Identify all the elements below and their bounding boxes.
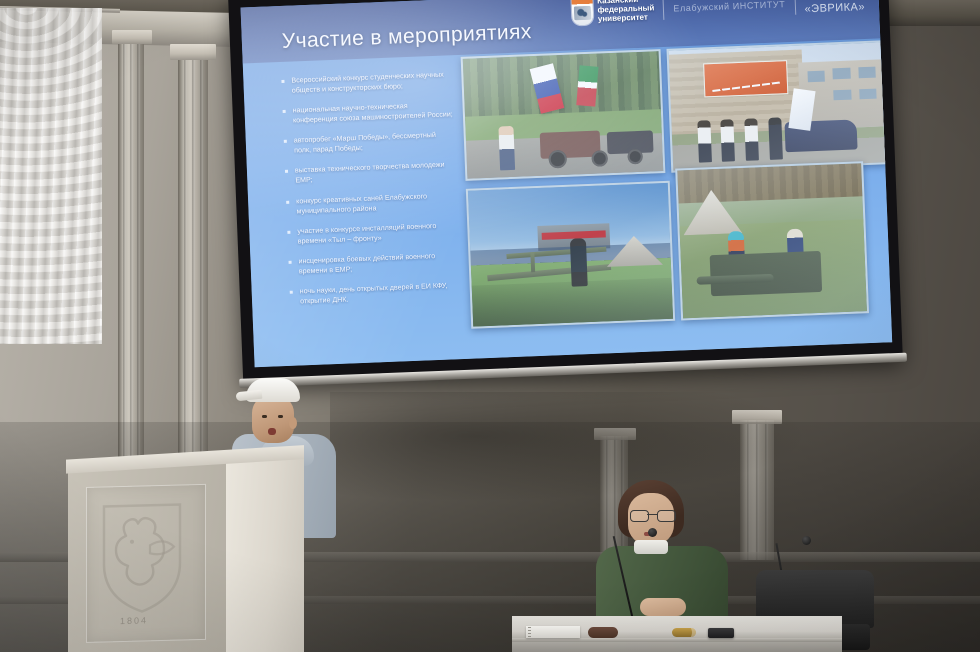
microphone-center xyxy=(620,528,660,628)
kfu-crest-icon xyxy=(571,0,593,26)
projection-screen: Участие в мероприятиях Казанский федерал… xyxy=(228,0,903,386)
slide-photo-flags-buggy xyxy=(461,49,666,181)
kfu-logo-text: Казанский федеральный университет xyxy=(597,0,655,24)
bullet-text: национальная научно-техническая конферен… xyxy=(292,99,453,125)
slide-photo-student-team xyxy=(666,40,890,173)
slide-photo-biplane xyxy=(466,181,675,329)
slide-photo-reenactment xyxy=(675,161,869,320)
podium-year-label: 1804 xyxy=(120,615,148,626)
bullet-marker-icon xyxy=(284,140,287,143)
snow-leopard-crest-icon xyxy=(96,500,188,614)
bullet-text: участие в конкурсе инсталляций военного … xyxy=(297,220,458,246)
bullet-item: ночь науки, день открытых дверей в ЕИ КФ… xyxy=(290,280,461,307)
institute-label: Елабужский ИНСТИТУТ xyxy=(673,0,785,13)
smartphone-item xyxy=(708,628,734,638)
pilaster-capital-a xyxy=(112,30,152,44)
conference-hall-photo: Участие в мероприятиях Казанский федерал… xyxy=(0,0,980,652)
presidium-table xyxy=(512,616,842,652)
case-item xyxy=(588,627,618,638)
bullet-marker-icon xyxy=(287,230,290,233)
podium-side-panel xyxy=(220,454,304,652)
eyeglasses-item xyxy=(672,628,696,637)
table-edge xyxy=(512,638,842,642)
bullet-text: Всероссийский конкурс студенческих научн… xyxy=(291,69,452,95)
presenter-head xyxy=(252,395,294,443)
pilaster-left-a xyxy=(118,40,144,470)
notebook-item xyxy=(526,626,580,638)
bullet-text: выставка технического творчества молодеж… xyxy=(295,160,456,186)
podium-front-panel: 1804 xyxy=(68,461,226,652)
presenter-eye-right xyxy=(278,415,283,418)
bullet-item: участие в конкурсе инсталляций военного … xyxy=(287,220,458,247)
bullet-item: выставка технического творчества молодеж… xyxy=(285,160,456,187)
bullet-marker-icon xyxy=(283,110,286,113)
bullet-item: инсценировка боевых действий военного вр… xyxy=(288,250,459,277)
kfu-line-3: университет xyxy=(598,13,655,24)
bullet-text: автопробег «Марш Победы», бессмертный по… xyxy=(294,130,455,156)
presenter-cap xyxy=(246,378,300,402)
bullet-text: ночь науки, день открытых дверей в ЕИ КФ… xyxy=(300,280,461,306)
bullet-text: конкурс креативных саней Елабужского мун… xyxy=(296,190,457,216)
presenter-ear xyxy=(289,417,297,429)
seated-person xyxy=(596,480,728,630)
lectern-podium: 1804 xyxy=(68,459,330,652)
slide-photo-grid xyxy=(461,41,876,339)
bullet-item: Всероссийский конкурс студенческих научн… xyxy=(281,69,452,96)
bullet-item: автопробег «Марш Победы», бессмертный по… xyxy=(284,130,455,157)
bullet-marker-icon xyxy=(289,260,292,263)
pilaster-left-b xyxy=(178,56,208,476)
presenter-eye-left xyxy=(262,415,267,418)
screen-surface: Участие в мероприятиях Казанский федерал… xyxy=(241,0,893,367)
bullet-item: конкурс креативных саней Елабужского мун… xyxy=(286,190,457,217)
logo-divider-1 xyxy=(663,0,665,19)
presenter-mouth xyxy=(268,428,276,435)
bullet-marker-icon xyxy=(286,200,289,203)
bullet-text: инсценировка боевых действий военного вр… xyxy=(298,250,459,276)
club-line-2: «ЭВРИКА» xyxy=(804,1,865,17)
pilaster-capital-b xyxy=(170,44,216,60)
bullet-marker-icon xyxy=(281,80,284,83)
logo-divider-2 xyxy=(794,0,796,14)
wall-shadow xyxy=(330,392,810,502)
slide-bullet-list: Всероссийский конкурс студенческих научн… xyxy=(281,69,460,316)
presentation-slide: Участие в мероприятиях Казанский федерал… xyxy=(241,0,893,367)
bullet-marker-icon xyxy=(290,291,293,294)
bullet-marker-icon xyxy=(285,170,288,173)
bullet-item: национальная научно-техническая конферен… xyxy=(282,99,453,126)
club-label: СКТЬ «ЭВРИКА» xyxy=(804,0,866,17)
eyeglasses-icon xyxy=(630,510,674,520)
window-curtain xyxy=(0,8,102,344)
kfu-logo: Казанский федеральный университет xyxy=(571,0,655,26)
